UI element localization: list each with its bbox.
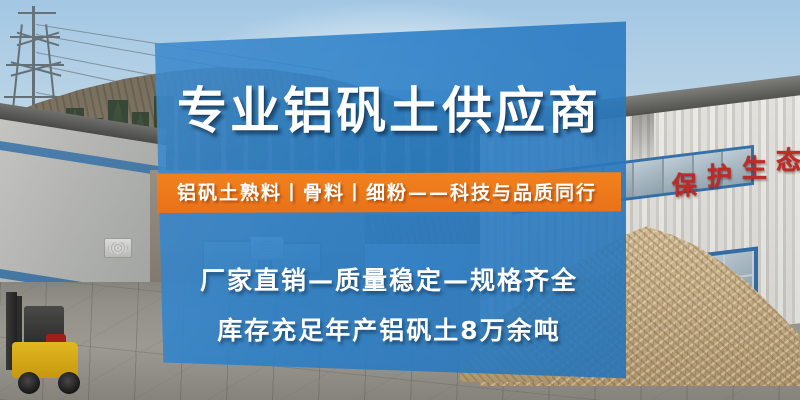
headline: 专业铝矾土供应商 [152, 82, 626, 140]
promo-banner: 质量监督 安全为重 [0, 0, 800, 400]
ribbon-tagline: 铝矾土熟料丨骨料丨细粉——科技与品质同行 [152, 181, 622, 205]
forklift [6, 290, 92, 394]
banner-text-layer: 专业铝矾土供应商 铝矾土熟料丨骨料丨细粉——科技与品质同行 厂家直销—质量稳定—… [152, 20, 626, 398]
subtitle-line-2: 库存充足年产铝矾土8万余吨 [152, 315, 626, 347]
subtitle-line-1: 厂家直销—质量稳定—规格齐全 [152, 265, 626, 297]
right-building-sign-char-1: 保 [672, 166, 697, 202]
right-building-sign-char-3: 生 [742, 149, 767, 185]
right-building-sign-char-4: 态 [776, 141, 800, 177]
air-conditioner-unit [104, 238, 132, 258]
right-building-sign-char-2: 护 [707, 157, 732, 193]
